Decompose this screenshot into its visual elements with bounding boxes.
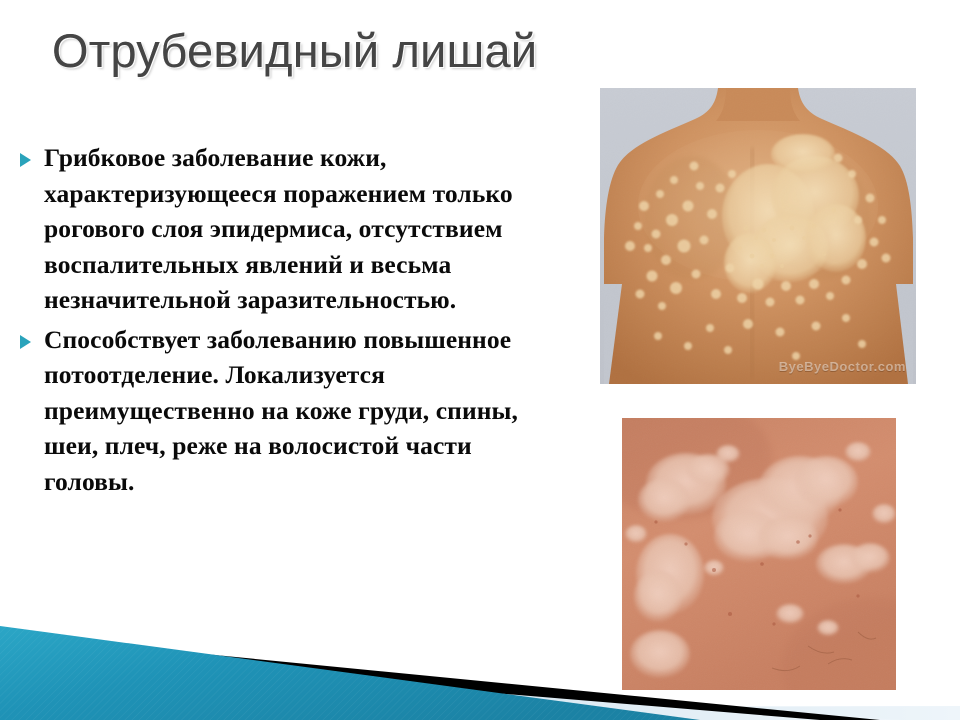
bullet-text: Способствует заболеванию повышенное пото… xyxy=(44,322,534,500)
list-item: Грибковое заболевание кожи, характеризую… xyxy=(14,140,534,318)
photo-back-graphic xyxy=(600,88,916,384)
slide-canvas: Отрубевидный лишай Грибковое заболевание… xyxy=(0,0,960,720)
clinical-photo-closeup xyxy=(622,418,896,690)
clinical-photo-back: ByeByeDoctor.com xyxy=(600,88,916,384)
triangle-right-icon xyxy=(14,140,44,167)
page-title: Отрубевидный лишай xyxy=(52,18,652,86)
list-item: Способствует заболеванию повышенное пото… xyxy=(14,322,534,500)
photo-closeup-graphic xyxy=(622,418,896,690)
bullet-list: Грибковое заболевание кожи, характеризую… xyxy=(14,140,534,503)
photo-watermark: ByeByeDoctor.com xyxy=(779,359,906,374)
triangle-right-icon xyxy=(14,322,44,349)
bullet-text: Грибковое заболевание кожи, характеризую… xyxy=(44,140,534,318)
